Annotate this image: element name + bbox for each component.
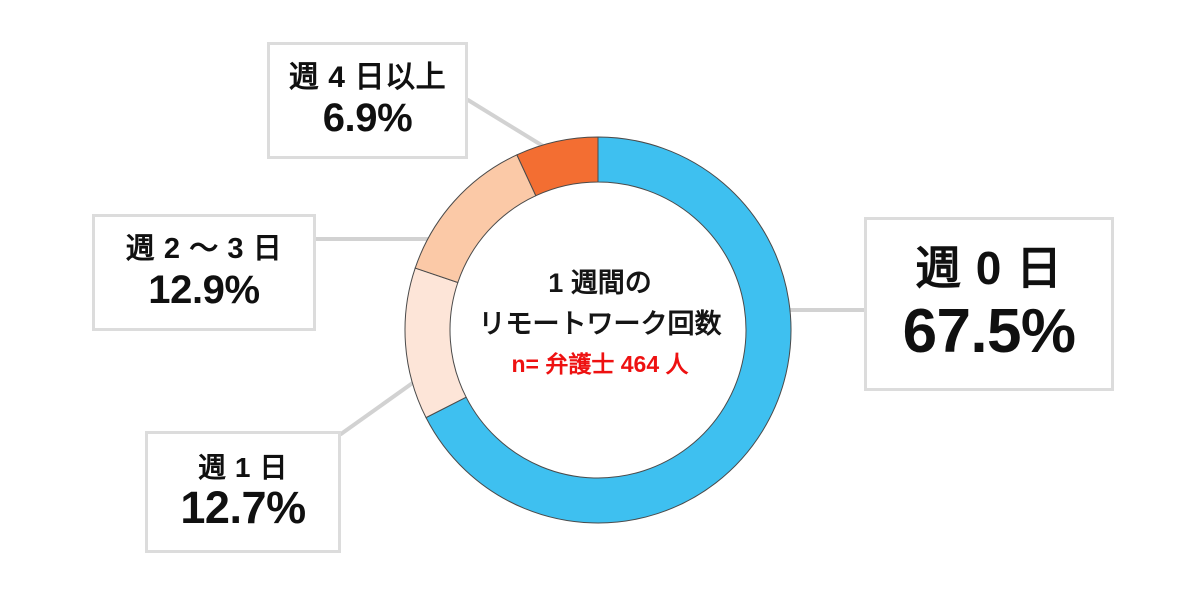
callout-week4plus[interactable]: 週 4 日以上 6.9% — [267, 42, 468, 159]
donut-ring — [405, 137, 791, 523]
callout-category-week0: 週 0 日 — [915, 244, 1063, 292]
donut-segment-week2to3[interactable] — [415, 155, 536, 283]
callout-category-week1: 週 1 日 — [198, 453, 288, 482]
donut-segment-week1[interactable] — [405, 268, 466, 418]
chart-canvas: 1 週間の リモートワーク回数 n= 弁護士 464 人 週 4 日以上 6.9… — [0, 0, 1200, 600]
callout-percent-week0: 67.5% — [903, 299, 1076, 364]
callout-percent-week2to3: 12.9% — [148, 269, 259, 311]
callout-category-week2to3: 週 2 ～ 3 日 — [126, 234, 283, 264]
callout-category-week4plus: 週 4 日以上 — [289, 62, 447, 94]
callout-percent-week4plus: 6.9% — [323, 97, 413, 139]
callout-percent-week1: 12.7% — [180, 484, 305, 531]
callout-week1[interactable]: 週 1 日 12.7% — [145, 431, 341, 553]
connector-line-week1 — [341, 377, 421, 434]
callout-week2to3[interactable]: 週 2 ～ 3 日 12.9% — [92, 214, 316, 331]
callout-week0[interactable]: 週 0 日 67.5% — [864, 217, 1114, 391]
